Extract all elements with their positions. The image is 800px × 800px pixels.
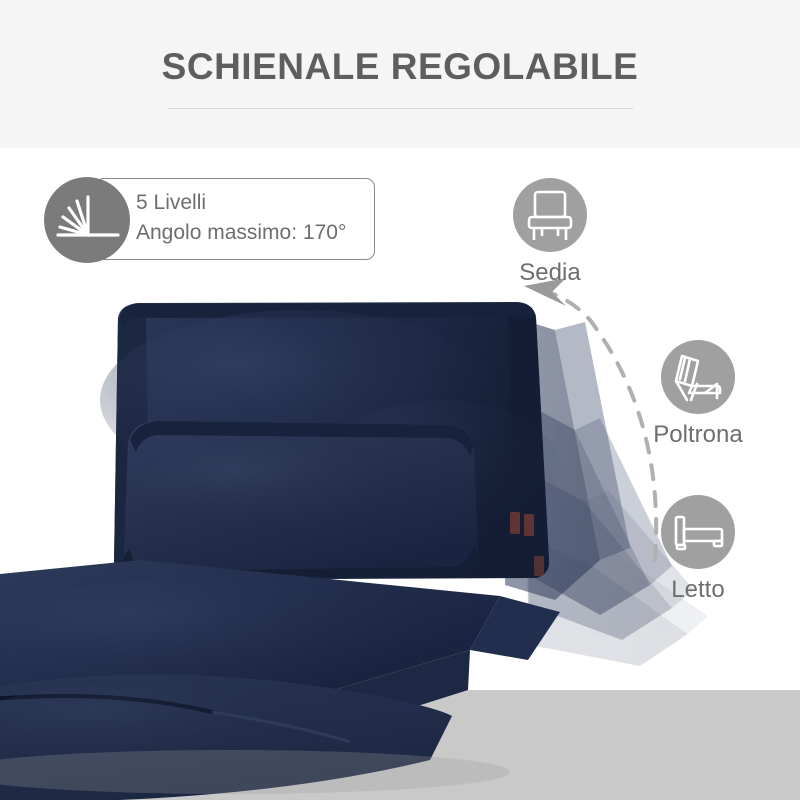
chair-icon [513,178,587,252]
badge-levels-text: 5 Livelli [136,188,386,218]
badge-max-angle-text: Angolo massimo: 170° [136,218,386,248]
product-feature-graphic: SCHIENALE REGOLABILE [0,0,800,800]
mode-letto-label: Letto [638,576,758,604]
mode-poltrona: Poltrona [638,340,758,449]
mode-poltrona-label: Poltrona [638,421,758,449]
mode-sedia: Sedia [490,178,610,287]
mode-letto: Letto [638,495,758,604]
bolster-pillow [124,421,478,580]
mode-sedia-label: Sedia [490,259,610,287]
recliner-icon [661,340,735,414]
bed-icon [661,495,735,569]
angle-badge-text: 5 Livelli Angolo massimo: 170° [136,188,386,248]
adjustable-angle-icon [44,177,130,263]
